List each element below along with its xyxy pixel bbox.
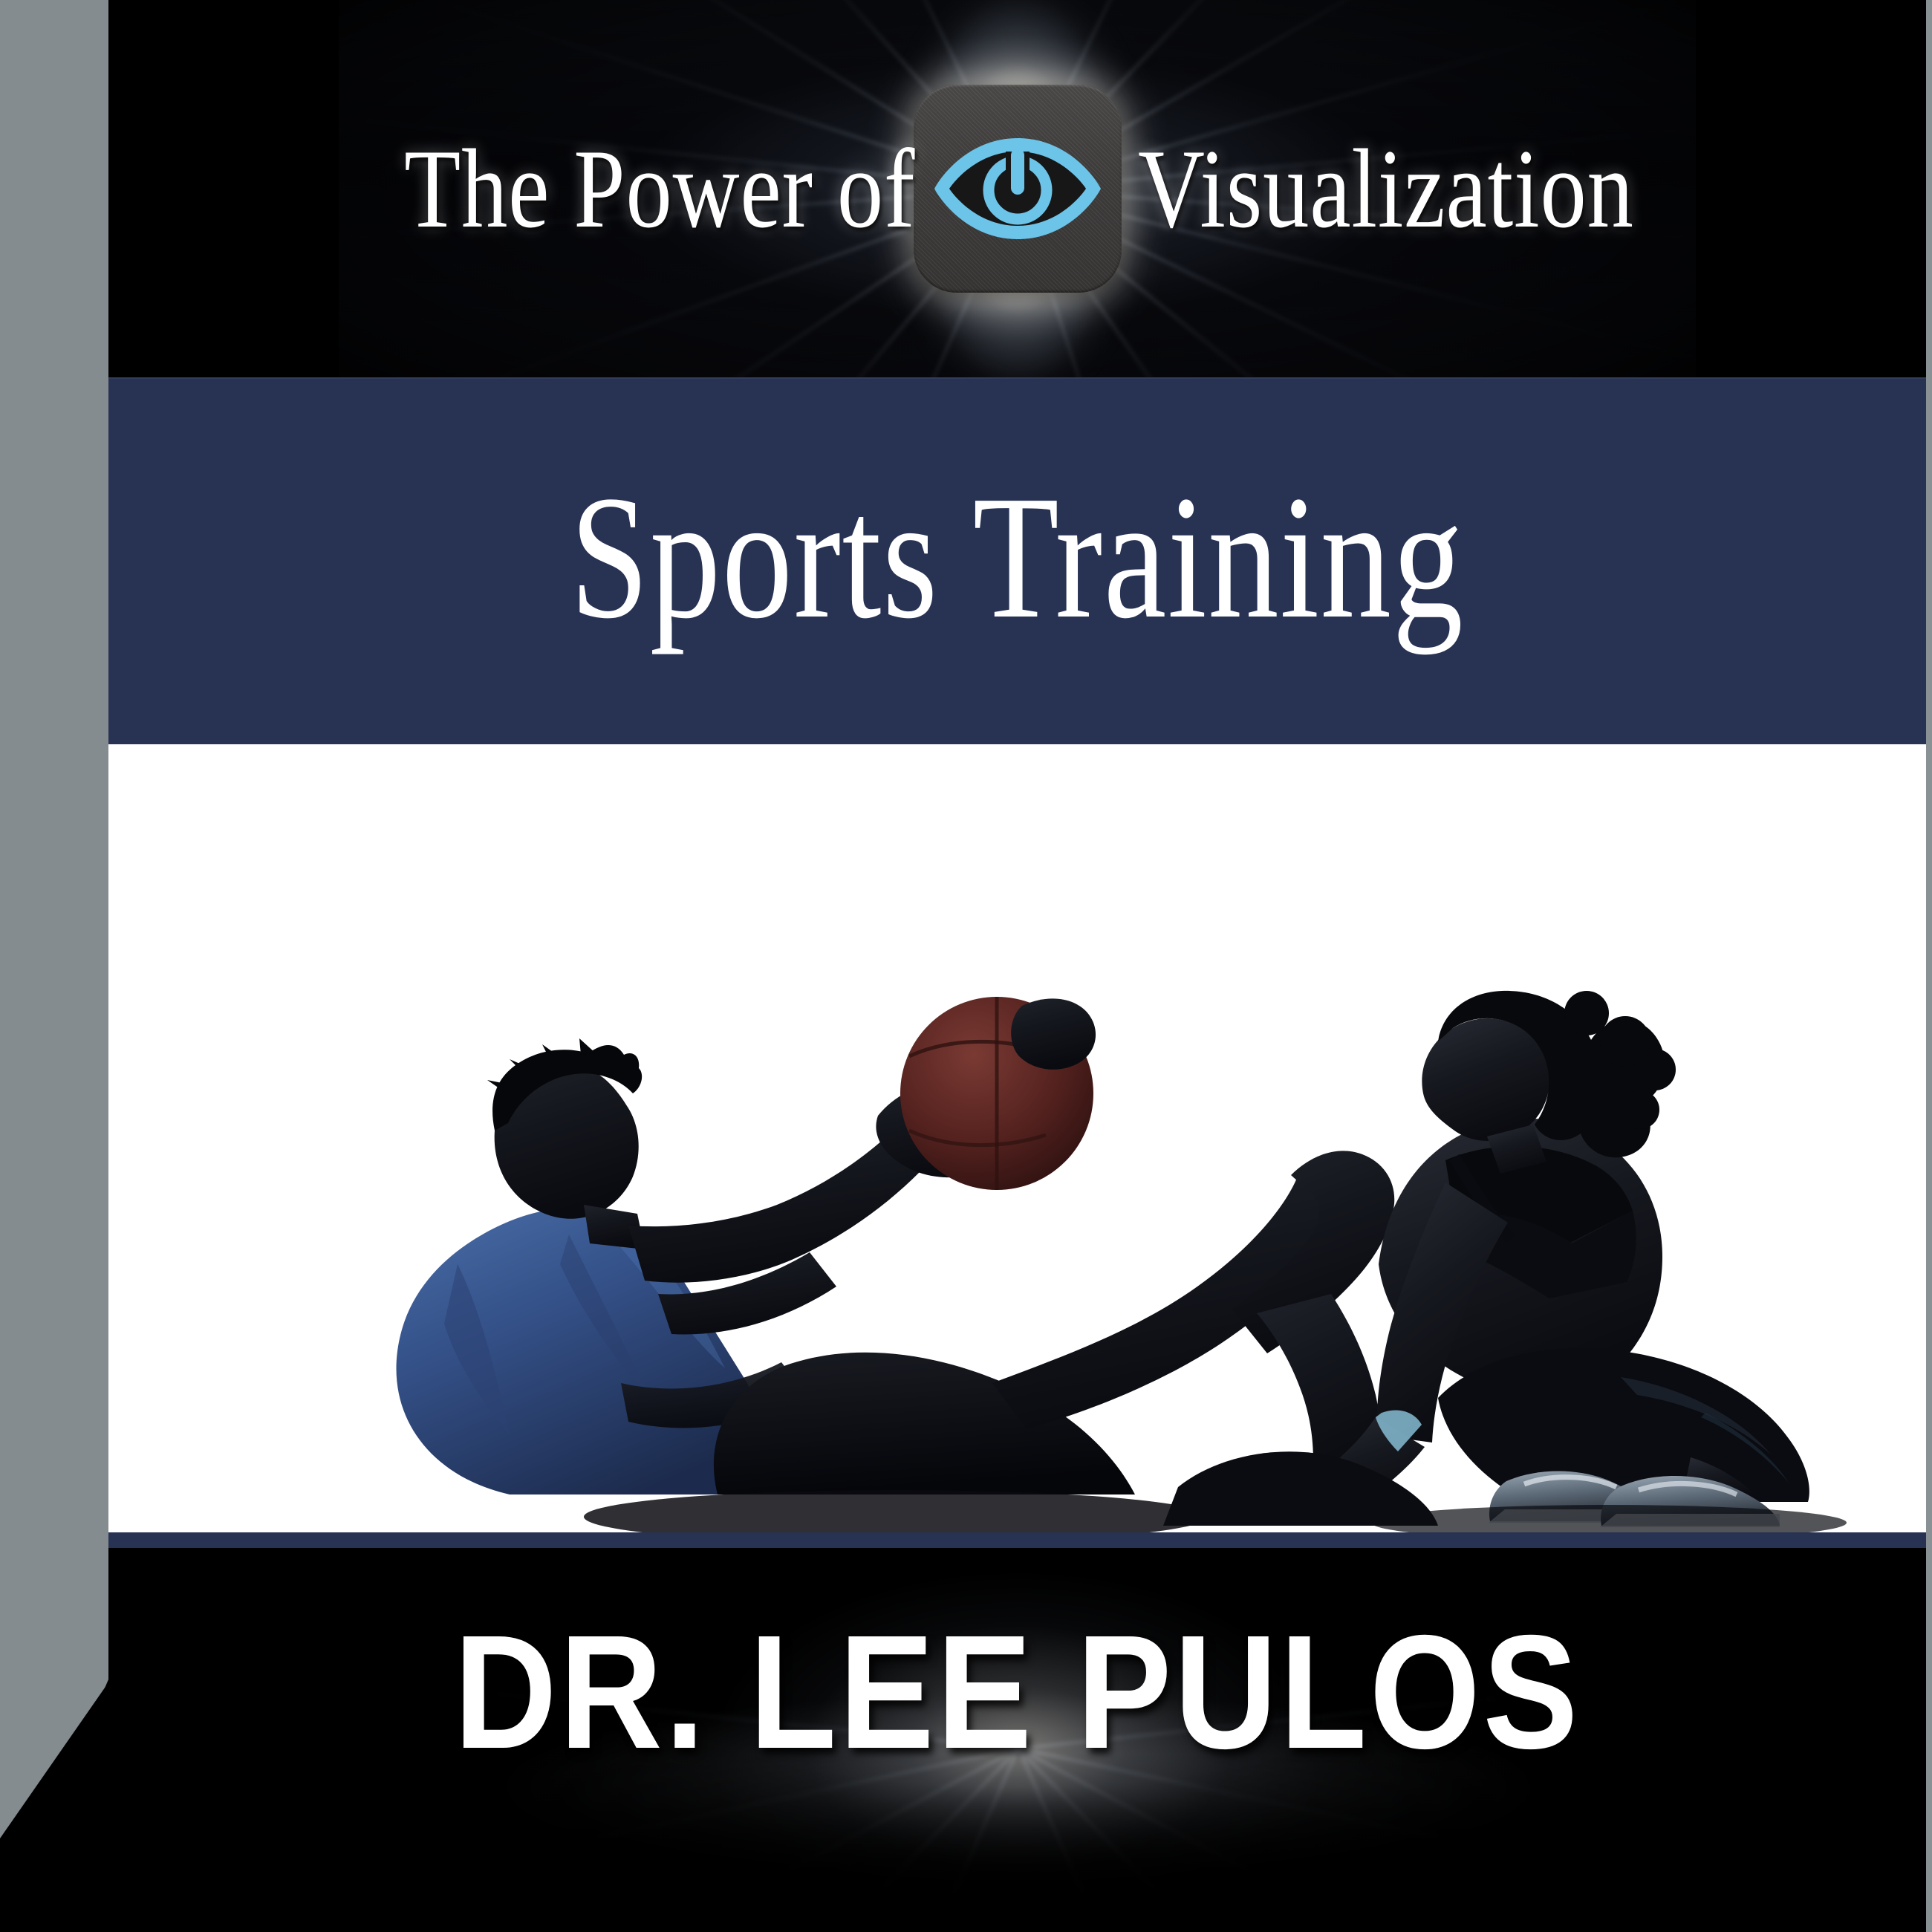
eye-power-icon [914,85,1122,293]
photo-bottom-rule [108,1532,1926,1548]
cover-footer: DR. LEE PULOS [108,1548,1926,1932]
author-name: DR. LEE PULOS [218,1548,1817,1838]
volume-title-band: Sports Training [108,377,1926,744]
header-left-panel [108,0,339,377]
cover-header: The Power of Visualization [108,0,1926,377]
header-right-panel [1696,0,1926,377]
cover-photo [108,744,1926,1532]
left-edge-band [0,0,108,1932]
volume-title: Sports Training [570,469,1465,646]
audiobook-cover: The Power of Visualization Sports Traini… [0,0,1932,1932]
right-edge-band [1926,0,1932,1932]
